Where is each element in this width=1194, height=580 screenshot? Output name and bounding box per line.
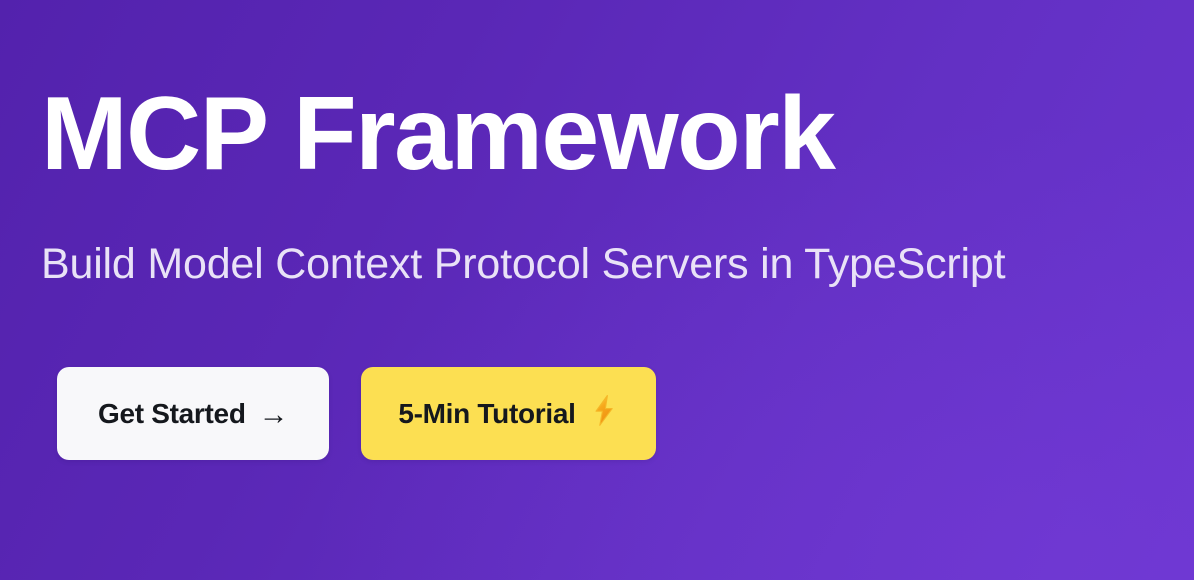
get-started-button-label: Get Started <box>98 398 246 430</box>
page-subtitle: Build Model Context Protocol Servers in … <box>41 239 1005 290</box>
page-title: MCP Framework <box>41 78 835 190</box>
hero-banner: MCP Framework Build Model Context Protoc… <box>0 0 1194 580</box>
five-min-tutorial-button-label: 5-Min Tutorial <box>398 398 575 430</box>
hero-action-buttons: Get Started → 5-Min Tutorial <box>57 367 656 460</box>
lightning-bolt-icon <box>589 394 619 434</box>
arrow-right-icon: → <box>259 400 289 430</box>
five-min-tutorial-button[interactable]: 5-Min Tutorial <box>361 367 655 460</box>
get-started-button[interactable]: Get Started → <box>57 367 329 460</box>
